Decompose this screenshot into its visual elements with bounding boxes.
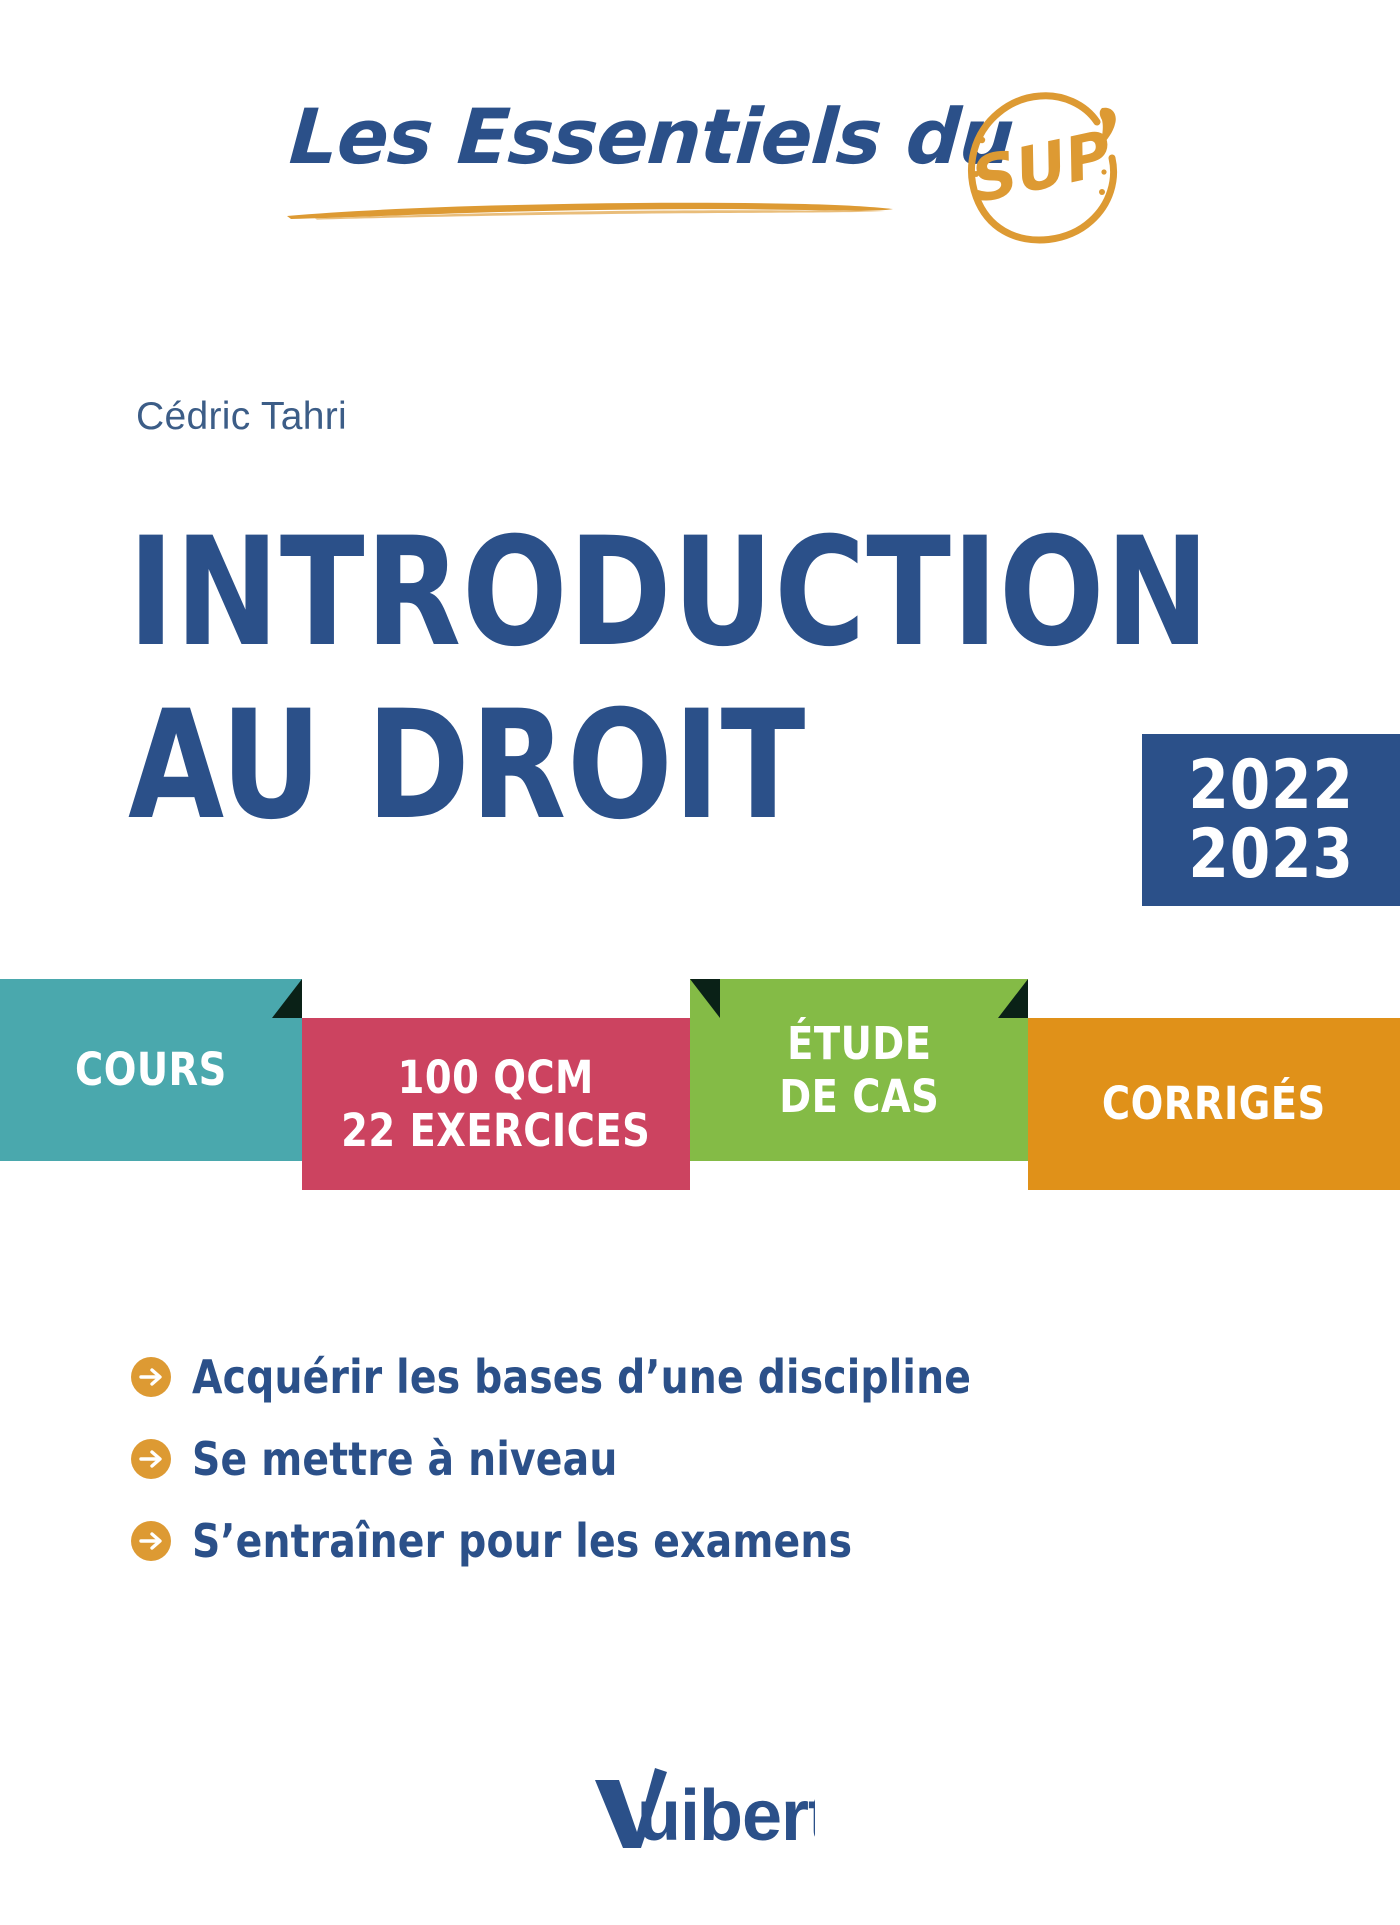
collection-name: Les Essentiels du (287, 92, 1016, 181)
benefits-list: Acquérir les bases d’une discipline Se m… (130, 1350, 1030, 1596)
title-line-1: INTRODUCTION (128, 520, 1195, 667)
tab-corriges-label: CORRIGÉS (1102, 1077, 1326, 1130)
svg-text:uibert: uibert (637, 1776, 815, 1852)
list-item: S’entraîner pour les examens (130, 1514, 1030, 1568)
tab-qcm-label: 100 QCM 22 EXERCICES (341, 1051, 650, 1157)
collection-banner: Les Essentiels du (0, 70, 1400, 260)
list-item: Se mettre à niveau (130, 1432, 1030, 1486)
benefit-label: Se mettre à niveau (192, 1432, 618, 1486)
title-line-2: AU DROIT (128, 693, 1195, 840)
tab-qcm-exercices: 100 QCM 22 EXERCICES (302, 1018, 690, 1190)
arrow-right-circle-icon (130, 1520, 172, 1562)
arrow-right-circle-icon (130, 1438, 172, 1480)
tab-fold-icon-left (272, 979, 302, 1018)
tab-cours: COURS (0, 979, 302, 1161)
brush-underline-icon (285, 198, 895, 220)
tab-etude-de-cas: ÉTUDE DE CAS (690, 979, 1028, 1161)
collection-banner-inner: Les Essentiels du (290, 70, 1120, 260)
benefit-label: Acquérir les bases d’une discipline (192, 1350, 971, 1404)
tab-cours-label: COURS (75, 1043, 227, 1096)
svg-text:SUP: SUP (965, 116, 1118, 217)
book-title: INTRODUCTION AU DROIT (128, 520, 1288, 840)
tab-corriges: CORRIGÉS (1028, 1018, 1400, 1190)
tab-etude-label: ÉTUDE DE CAS (779, 1017, 939, 1123)
tab-fold-icon-middle (690, 979, 720, 1018)
year-badge-line-2: 2023 (1188, 820, 1354, 889)
publisher-logo: uibert Vuibert (0, 1760, 1400, 1857)
feature-tabs: COURS 100 QCM 22 EXERCICES ÉTUDE DE CAS … (0, 960, 1400, 1210)
tab-fold-icon-right (998, 979, 1028, 1018)
list-item: Acquérir les bases d’une discipline (130, 1350, 1030, 1404)
author-name: Cédric Tahri (136, 395, 347, 439)
benefit-label: S’entraîner pour les examens (192, 1514, 852, 1568)
year-badge: 2022 2023 (1142, 734, 1400, 906)
arrow-right-circle-icon (130, 1356, 172, 1398)
book-cover: Les Essentiels du (0, 0, 1400, 1925)
year-badge-line-1: 2022 (1188, 751, 1354, 820)
sup-badge-icon: SUP (952, 76, 1142, 254)
